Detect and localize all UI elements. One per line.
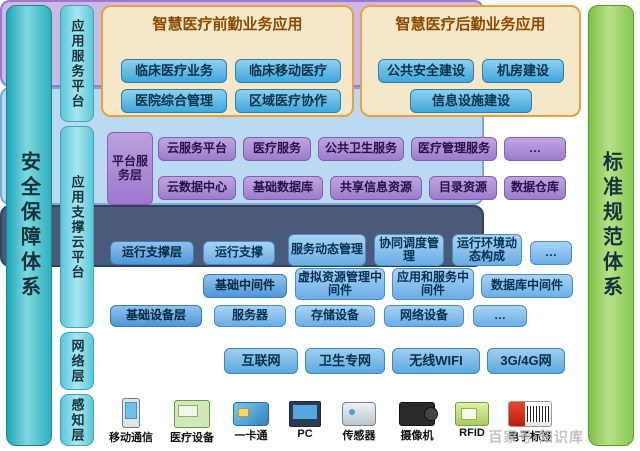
- layer-label-sense-text: 感知层: [68, 398, 87, 443]
- support-row1-item-0[interactable]: 运行支撑层: [110, 241, 194, 265]
- support-row2-item-2[interactable]: 应用和服务中间件: [392, 268, 474, 300]
- sense-item-4[interactable]: 传感器: [331, 402, 387, 443]
- layer-label-support-cloud-text: 应用支撑云平台: [68, 175, 87, 280]
- sense-item-0-label: 移动通信: [101, 429, 161, 445]
- sense-item-1[interactable]: 医疗设备: [162, 400, 222, 445]
- app-front-item-1[interactable]: 临床移动医疗: [235, 59, 341, 83]
- camera-icon: [399, 402, 435, 426]
- layer-label-app-service-text: 应用服务平台: [68, 19, 87, 109]
- app-back-item-2[interactable]: 信息设施建设: [410, 89, 532, 113]
- layer-label-sense: 感知层: [60, 394, 94, 446]
- network-item-1[interactable]: 卫生专网: [305, 348, 385, 374]
- support-row3-item-4[interactable]: …: [473, 305, 527, 327]
- platform-row1-item-1[interactable]: 医疗服务: [243, 137, 311, 161]
- support-row2-item-1[interactable]: 虚拟资源管理中间件: [295, 268, 385, 300]
- sense-item-2-label: 一卡通: [223, 427, 279, 443]
- layer-label-support-cloud: 应用支撑云平台: [60, 126, 94, 328]
- support-row3-item-2[interactable]: 存储设备: [295, 305, 375, 327]
- layer-label-app-service: 应用服务平台: [60, 5, 94, 122]
- sensor-icon: [342, 402, 376, 426]
- app-back-item-0[interactable]: 公共安全建设: [378, 59, 474, 83]
- network-item-2[interactable]: 无线WIFI: [392, 348, 480, 374]
- platform-row2-item-1[interactable]: 基础数据库: [243, 176, 323, 200]
- security-system-bar: 安全保障体系: [6, 5, 52, 446]
- panel-front-office-apps: 智慧医疗前勤业务应用 临床医疗业务 临床移动医疗 医院综合管理 区域医疗协作: [101, 5, 354, 117]
- support-row1-item-5[interactable]: …: [530, 241, 572, 265]
- layer-label-network-text: 网络层: [68, 339, 87, 384]
- platform-row2-item-4[interactable]: 数据仓库: [504, 176, 566, 200]
- sense-item-4-label: 传感器: [331, 427, 387, 443]
- platform-row1-item-4[interactable]: …: [504, 137, 566, 161]
- platform-row1-item-0[interactable]: 云服务平台: [158, 137, 236, 161]
- platform-row2-item-2[interactable]: 共享信息资源: [330, 176, 422, 200]
- app-front-item-3[interactable]: 区域医疗协作: [235, 89, 341, 113]
- desktop-pc-icon: [289, 401, 321, 427]
- layer-label-network: 网络层: [60, 332, 94, 390]
- network-item-3[interactable]: 3G/4G网: [487, 348, 565, 374]
- platform-service-layer-label: 平台服务层: [107, 132, 153, 205]
- app-front-item-0[interactable]: 临床医疗业务: [121, 59, 227, 83]
- sense-item-2[interactable]: 一卡通: [223, 402, 279, 443]
- mobile-phone-icon: [122, 398, 140, 428]
- support-row1-item-3[interactable]: 协同调度管理: [374, 234, 444, 266]
- rfid-tag-icon: [455, 402, 489, 426]
- support-row3-item-1[interactable]: 服务器: [214, 305, 286, 327]
- support-row2-item-0[interactable]: 基础中间件: [203, 274, 287, 298]
- network-item-0[interactable]: 互联网: [224, 348, 298, 374]
- standard-system-bar: 标准规范体系: [588, 5, 634, 446]
- app-back-item-1[interactable]: 机房建设: [482, 59, 564, 83]
- support-row1-item-1[interactable]: 运行支撑: [203, 241, 275, 265]
- sense-item-1-label: 医疗设备: [162, 429, 222, 445]
- smart-card-icon: [233, 402, 269, 426]
- medical-device-icon: [174, 400, 210, 428]
- barcode-card-icon: [508, 401, 552, 427]
- platform-row2-item-3[interactable]: 目录资源: [429, 176, 497, 200]
- network-layer-title: 网络传输: [120, 348, 216, 374]
- support-row1-item-2[interactable]: 服务动态管理: [288, 234, 366, 266]
- sense-item-5[interactable]: 摄像机: [389, 402, 445, 443]
- app-front-item-2[interactable]: 医院综合管理: [121, 89, 227, 113]
- support-row1-item-4[interactable]: 运行环境动态构成: [452, 234, 522, 266]
- panel-front-office-title: 智慧医疗前勤业务应用: [103, 13, 352, 34]
- sense-item-3[interactable]: PC: [280, 401, 330, 440]
- platform-row1-item-3[interactable]: 医疗管理服务: [411, 137, 497, 161]
- platform-row2-item-0[interactable]: 云数据中心: [158, 176, 236, 200]
- sense-item-0[interactable]: 移动通信: [101, 398, 161, 445]
- standard-system-label: 标准规范体系: [597, 151, 626, 301]
- sense-item-3-label: PC: [280, 428, 330, 440]
- support-row2-item-3[interactable]: 数据库中间件: [481, 274, 573, 298]
- support-row3-item-0[interactable]: 基础设备层: [110, 305, 202, 327]
- panel-back-office-apps: 智慧医疗后勤业务应用 公共安全建设 机房建设 信息设施建设: [360, 5, 581, 117]
- support-row3-item-3[interactable]: 网络设备: [384, 305, 464, 327]
- diagram-canvas: 安全保障体系 标准规范体系 应用服务平台 应用支撑云平台 网络层 感知层 智慧医…: [0, 0, 640, 451]
- platform-row1-item-2[interactable]: 公共卫生服务: [318, 137, 404, 161]
- sense-item-5-label: 摄像机: [389, 427, 445, 443]
- panel-back-office-title: 智慧医疗后勤业务应用: [362, 13, 579, 34]
- watermark: 百家号·知识库: [488, 427, 584, 447]
- security-system-label: 安全保障体系: [15, 151, 44, 301]
